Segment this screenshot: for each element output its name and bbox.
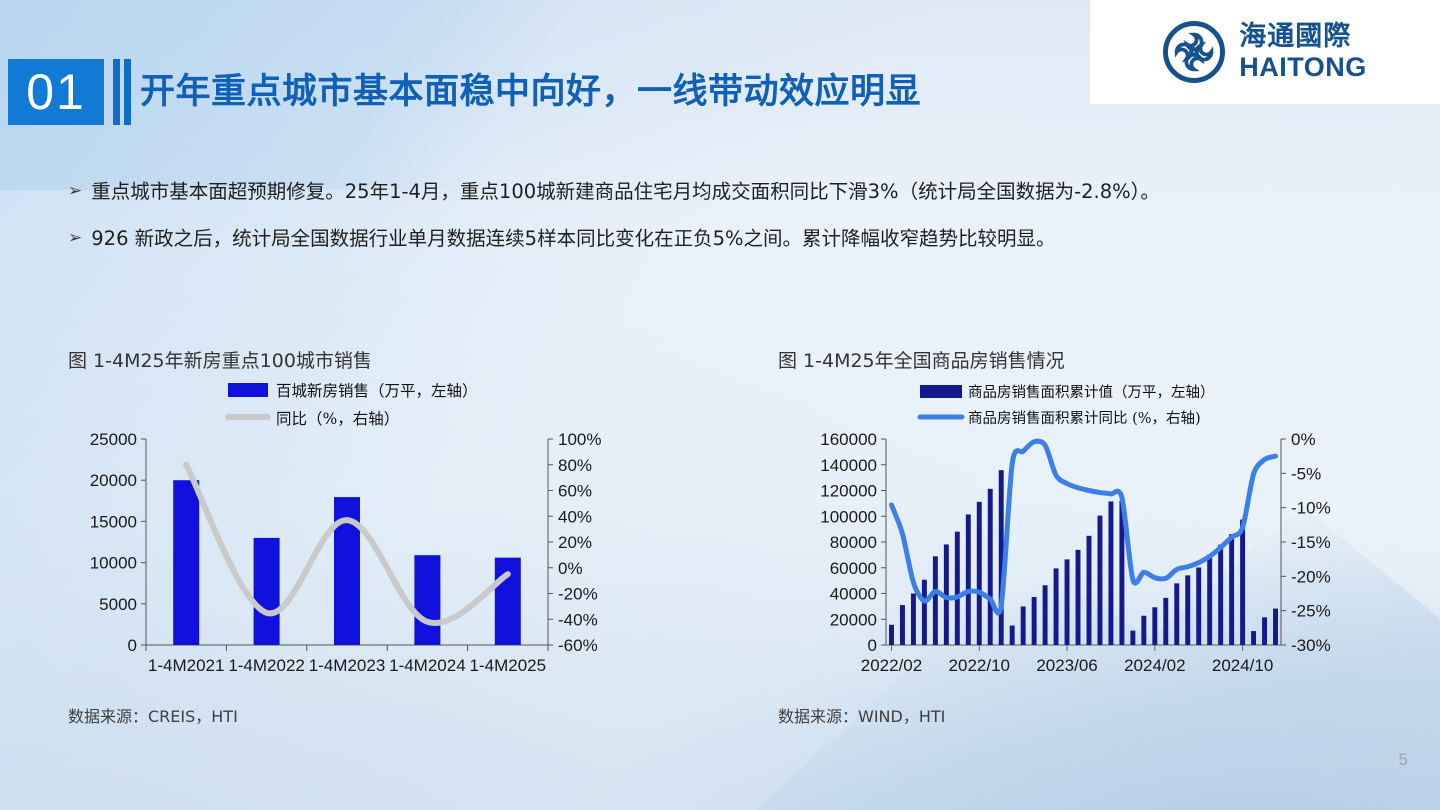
bar [966, 514, 971, 645]
svg-text:60%: 60% [558, 482, 592, 501]
bar [1141, 616, 1146, 645]
legend-swatch-bar [228, 383, 268, 397]
bar [977, 502, 982, 645]
section-number-badge: 01 [8, 59, 104, 125]
svg-text:15000: 15000 [90, 512, 137, 531]
svg-text:百城新房销售（万平，左轴）: 百城新房销售（万平，左轴） [276, 382, 478, 400]
svg-text:0: 0 [128, 636, 137, 655]
bar [1021, 607, 1026, 645]
svg-text:40%: 40% [558, 507, 592, 526]
bar [1240, 520, 1245, 645]
svg-text:-5%: -5% [1291, 464, 1321, 483]
svg-text:1-4M2021: 1-4M2021 [148, 656, 225, 675]
right-chart-source: 数据来源：WIND，HTI [778, 703, 1398, 727]
svg-text:80000: 80000 [830, 533, 877, 552]
slide-canvas: 海通國際 HAITONG 01 开年重点城市基本面稳中向好，一线带动效应明显 ➢… [0, 0, 1440, 810]
list-item: ➢ 926 新政之后，统计局全国数据行业单月数据连续5样本同比变化在正负5%之间… [68, 223, 1398, 254]
legend-swatch-bar [920, 385, 962, 398]
svg-text:20000: 20000 [90, 471, 137, 490]
svg-text:20000: 20000 [830, 610, 877, 629]
bullet-arrow-icon: ➢ [68, 223, 82, 253]
bar [254, 538, 280, 645]
trend-line [891, 441, 1275, 613]
svg-text:-40%: -40% [558, 610, 598, 629]
bar [1163, 598, 1168, 645]
svg-text:40000: 40000 [830, 585, 877, 604]
bar [1185, 575, 1190, 645]
bar [1262, 617, 1267, 645]
bar [1065, 559, 1070, 645]
svg-text:-25%: -25% [1291, 602, 1331, 621]
bar [1108, 501, 1113, 645]
left-chart-source: 数据来源：CREIS，HTI [68, 703, 688, 727]
bar [495, 558, 521, 645]
svg-text:80%: 80% [558, 456, 592, 475]
bar [1043, 585, 1048, 645]
svg-text:100%: 100% [558, 430, 601, 449]
bar [1076, 550, 1081, 645]
right-chart-title: 图 1-4M25年全国商品房销售情况 [778, 346, 1398, 373]
bar [1207, 554, 1212, 645]
bar [1097, 516, 1102, 645]
bar [1251, 631, 1256, 645]
svg-text:5000: 5000 [99, 595, 137, 614]
bar [955, 532, 960, 645]
svg-text:1-4M2022: 1-4M2022 [228, 656, 305, 675]
svg-text:100000: 100000 [820, 507, 877, 526]
svg-text:60000: 60000 [830, 559, 877, 578]
svg-text:10000: 10000 [90, 554, 137, 573]
bar [173, 480, 199, 645]
svg-text:1-4M2025: 1-4M2025 [470, 656, 547, 675]
svg-text:2024/02: 2024/02 [1124, 656, 1185, 675]
right-chart-block: 图 1-4M25年全国商品房销售情况 020000400006000080000… [778, 346, 1398, 727]
svg-text:2023/06: 2023/06 [1036, 656, 1097, 675]
bar [889, 625, 894, 645]
svg-text:2024/10: 2024/10 [1212, 656, 1273, 675]
bar [988, 489, 993, 645]
bar [1152, 607, 1157, 645]
bullet-text: 重点城市基本面超预期修复。25年1-4月，重点100城新建商品住宅月均成交面积同… [91, 176, 1160, 207]
svg-text:2022/02: 2022/02 [861, 656, 922, 675]
svg-text:160000: 160000 [820, 430, 877, 449]
bar [911, 594, 916, 646]
left-chart-title: 图 1-4M25年新房重点100城市销售 [68, 346, 688, 373]
left-chart-figure: 0500010000150002000025000-60%-40%-20%0%2… [68, 373, 688, 703]
svg-text:-15%: -15% [1291, 533, 1331, 552]
title-divider-bar-2 [124, 59, 131, 125]
bar [1218, 545, 1223, 645]
bar [1054, 568, 1059, 645]
svg-text:-20%: -20% [1291, 567, 1331, 586]
bar [1174, 583, 1179, 645]
haitong-emblem-icon [1163, 21, 1225, 83]
list-item: ➢ 重点城市基本面超预期修复。25年1-4月，重点100城新建商品住宅月均成交面… [68, 176, 1398, 207]
svg-text:25000: 25000 [90, 430, 137, 449]
bar [900, 605, 905, 645]
svg-text:0%: 0% [1291, 430, 1316, 449]
svg-text:1-4M2023: 1-4M2023 [309, 656, 386, 675]
title-divider-bar-1 [113, 59, 120, 125]
svg-text:20%: 20% [558, 533, 592, 552]
svg-text:-10%: -10% [1291, 499, 1331, 518]
bar [1196, 567, 1201, 645]
bar [1130, 631, 1135, 645]
bar [1229, 534, 1234, 645]
bullet-text: 926 新政之后，统计局全国数据行业单月数据连续5样本同比变化在正负5%之间。累… [91, 223, 1055, 254]
svg-text:1-4M2024: 1-4M2024 [389, 656, 466, 675]
logo-english-name: HAITONG [1239, 54, 1367, 81]
bullet-arrow-icon: ➢ [68, 176, 82, 206]
bar [1010, 626, 1015, 645]
bar [1273, 609, 1278, 645]
bullet-list: ➢ 重点城市基本面超预期修复。25年1-4月，重点100城新建商品住宅月均成交面… [68, 176, 1398, 270]
svg-text:120000: 120000 [820, 482, 877, 501]
svg-text:2022/10: 2022/10 [949, 656, 1010, 675]
bar [922, 580, 927, 645]
bar [414, 555, 440, 645]
svg-text:商品房销售面积累计同比 (%，右轴): 商品房销售面积累计同比 (%，右轴) [968, 410, 1201, 427]
brand-logo: 海通國際 HAITONG [1090, 0, 1440, 104]
svg-text:同比（%，右轴）: 同比（%，右轴） [276, 410, 399, 428]
svg-text:-60%: -60% [558, 636, 598, 655]
page-number: 5 [1399, 750, 1408, 770]
svg-text:140000: 140000 [820, 456, 877, 475]
svg-text:-20%: -20% [558, 585, 598, 604]
page-title: 开年重点城市基本面稳中向好，一线带动效应明显 [140, 63, 921, 114]
left-chart-block: 图 1-4M25年新房重点100城市销售 0500010000150002000… [68, 346, 688, 727]
svg-text:0%: 0% [558, 559, 583, 578]
bar [933, 556, 938, 645]
bar [1032, 597, 1037, 645]
svg-text:-30%: -30% [1291, 636, 1331, 655]
bar [1087, 536, 1092, 645]
svg-text:商品房销售面积累计值（万平，左轴）: 商品房销售面积累计值（万平，左轴） [968, 384, 1215, 401]
right-chart-figure: 0200004000060000800001000001200001400001… [778, 373, 1398, 703]
logo-chinese-name: 海通國際 [1239, 23, 1367, 50]
svg-text:0: 0 [868, 636, 877, 655]
